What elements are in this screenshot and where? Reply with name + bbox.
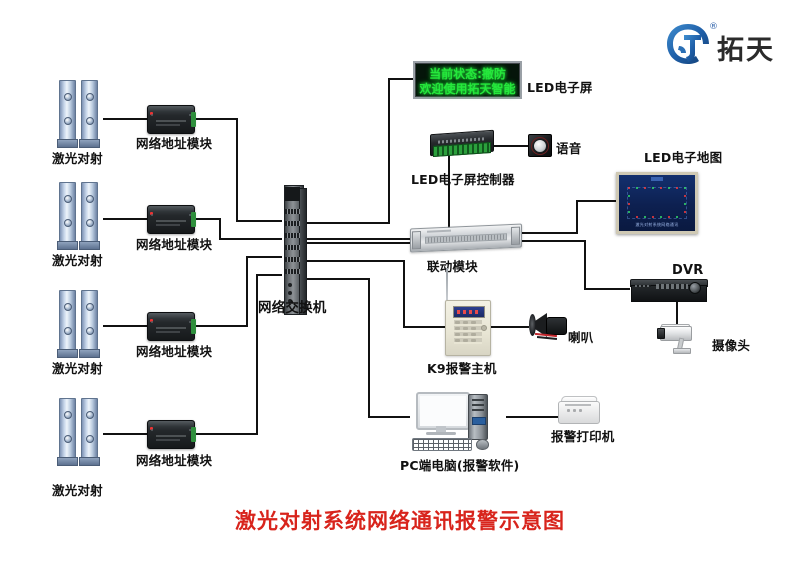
brand-logo: ® 拓天 bbox=[665, 22, 795, 70]
wire-laser4-module bbox=[103, 433, 147, 435]
wire-linkmod-ledmap-h bbox=[520, 232, 578, 234]
wire-module2-to-switch bbox=[219, 238, 282, 240]
label-voice: 语音 bbox=[556, 138, 581, 157]
horn-speaker-icon bbox=[529, 311, 573, 341]
voice-speaker-icon bbox=[528, 134, 552, 157]
wire-module1-right bbox=[193, 118, 238, 120]
network-address-module-icon bbox=[147, 312, 195, 341]
label-laser3: 激光对射 bbox=[52, 358, 103, 377]
laser-barrier-icon bbox=[57, 290, 103, 360]
label-linkage-module: 联动模块 bbox=[427, 256, 478, 275]
label-printer: 报警打印机 bbox=[551, 426, 615, 445]
wire-laser2-module bbox=[103, 218, 147, 220]
wire-switch-k9-h bbox=[300, 260, 405, 262]
laser-barrier-icon bbox=[57, 398, 103, 468]
wire-linkmod-dvr-v bbox=[584, 240, 586, 290]
wire-k9-in bbox=[403, 326, 445, 328]
tuotian-logo-icon bbox=[665, 22, 711, 66]
label-horn: 喇叭 bbox=[568, 327, 593, 346]
label-laser1: 激光对射 bbox=[52, 148, 103, 167]
alarm-printer-icon bbox=[558, 395, 598, 425]
desktop-computer-icon bbox=[410, 392, 506, 452]
label-namod1: 网络地址模块 bbox=[136, 133, 212, 152]
label-led-controller: LED电子屏控制器 bbox=[411, 169, 515, 188]
wire-module4-to-switch bbox=[256, 274, 282, 276]
led-screen-controller-icon bbox=[430, 132, 492, 158]
label-dvr: DVR bbox=[672, 263, 703, 278]
diagram-title: 激光对射系统网络通讯报警示意图 bbox=[0, 505, 800, 535]
label-camera: 摄像头 bbox=[712, 335, 750, 354]
diagram-canvas: ® 拓天 bbox=[0, 0, 800, 579]
network-switch-icon bbox=[280, 185, 306, 313]
wire-ledscreen-in bbox=[388, 78, 413, 80]
wire-linkmod-dvr-h bbox=[520, 240, 586, 242]
wire-module4-right bbox=[193, 433, 258, 435]
wire-switch-pc-h bbox=[300, 278, 370, 280]
brand-name: 拓天 bbox=[717, 28, 775, 67]
led-screen-icon: 当前状态:撤防 欢迎使用拓天智能 bbox=[413, 61, 522, 99]
camera-icon bbox=[656, 322, 700, 356]
wire-switch-linkmod bbox=[300, 238, 410, 240]
wire-module3-right bbox=[193, 325, 248, 327]
wire-module1-down bbox=[236, 118, 238, 222]
linkage-module-icon bbox=[410, 224, 522, 253]
wire-module3-to-switch bbox=[246, 256, 282, 258]
label-laser2: 激光对射 bbox=[52, 250, 103, 269]
network-address-module-icon bbox=[147, 420, 195, 449]
laser-barrier-icon bbox=[57, 182, 103, 252]
label-namod3: 网络地址模块 bbox=[136, 341, 212, 360]
wire-pc-in bbox=[368, 416, 410, 418]
label-laser4: 激光对射 bbox=[52, 480, 103, 499]
label-namod4: 网络地址模块 bbox=[136, 450, 212, 469]
wire-module2-down bbox=[219, 218, 221, 240]
label-led-map: LED电子地图 bbox=[644, 147, 722, 166]
wire-ledctl-voice bbox=[492, 145, 528, 147]
led-electronic-map-icon: 激光对射系统网络通讯 bbox=[616, 172, 698, 234]
wire-dvr-in bbox=[584, 288, 630, 290]
wire-linkmod-ledmap-v bbox=[576, 200, 578, 234]
wire-ledmap-in bbox=[576, 200, 616, 202]
dvr-icon bbox=[630, 279, 706, 301]
wire-laser1-module bbox=[103, 118, 147, 120]
wire-module2-right bbox=[193, 218, 221, 220]
label-switch: 网络交换机 bbox=[258, 296, 327, 316]
alarm-host-icon bbox=[445, 300, 491, 356]
wire-module3-up bbox=[246, 256, 248, 327]
wire-switch-ledscreen-v bbox=[388, 78, 390, 224]
label-namod2: 网络地址模块 bbox=[136, 234, 212, 253]
led-screen-line2: 欢迎使用拓天智能 bbox=[415, 80, 520, 97]
label-led-screen: LED电子屏 bbox=[527, 77, 593, 96]
laser-barrier-icon bbox=[57, 80, 103, 150]
wire-module1-to-switch bbox=[236, 220, 282, 222]
network-address-module-icon bbox=[147, 205, 195, 234]
wire-switch-ledscreen-h bbox=[300, 222, 390, 224]
label-k9: K9报警主机 bbox=[427, 358, 497, 377]
wire-switch-pc-v bbox=[368, 278, 370, 418]
wire-switch-k9-v bbox=[403, 260, 405, 328]
antenna-icon bbox=[446, 268, 448, 300]
wire-laser3-module bbox=[103, 325, 147, 327]
led-map-caption: 激光对射系统网络通讯 bbox=[619, 222, 695, 228]
wire-k9-horn bbox=[489, 326, 529, 328]
network-address-module-icon bbox=[147, 105, 195, 134]
label-pc: PC端电脑(报警软件) bbox=[400, 455, 519, 474]
wire-pc-printer bbox=[506, 416, 558, 418]
